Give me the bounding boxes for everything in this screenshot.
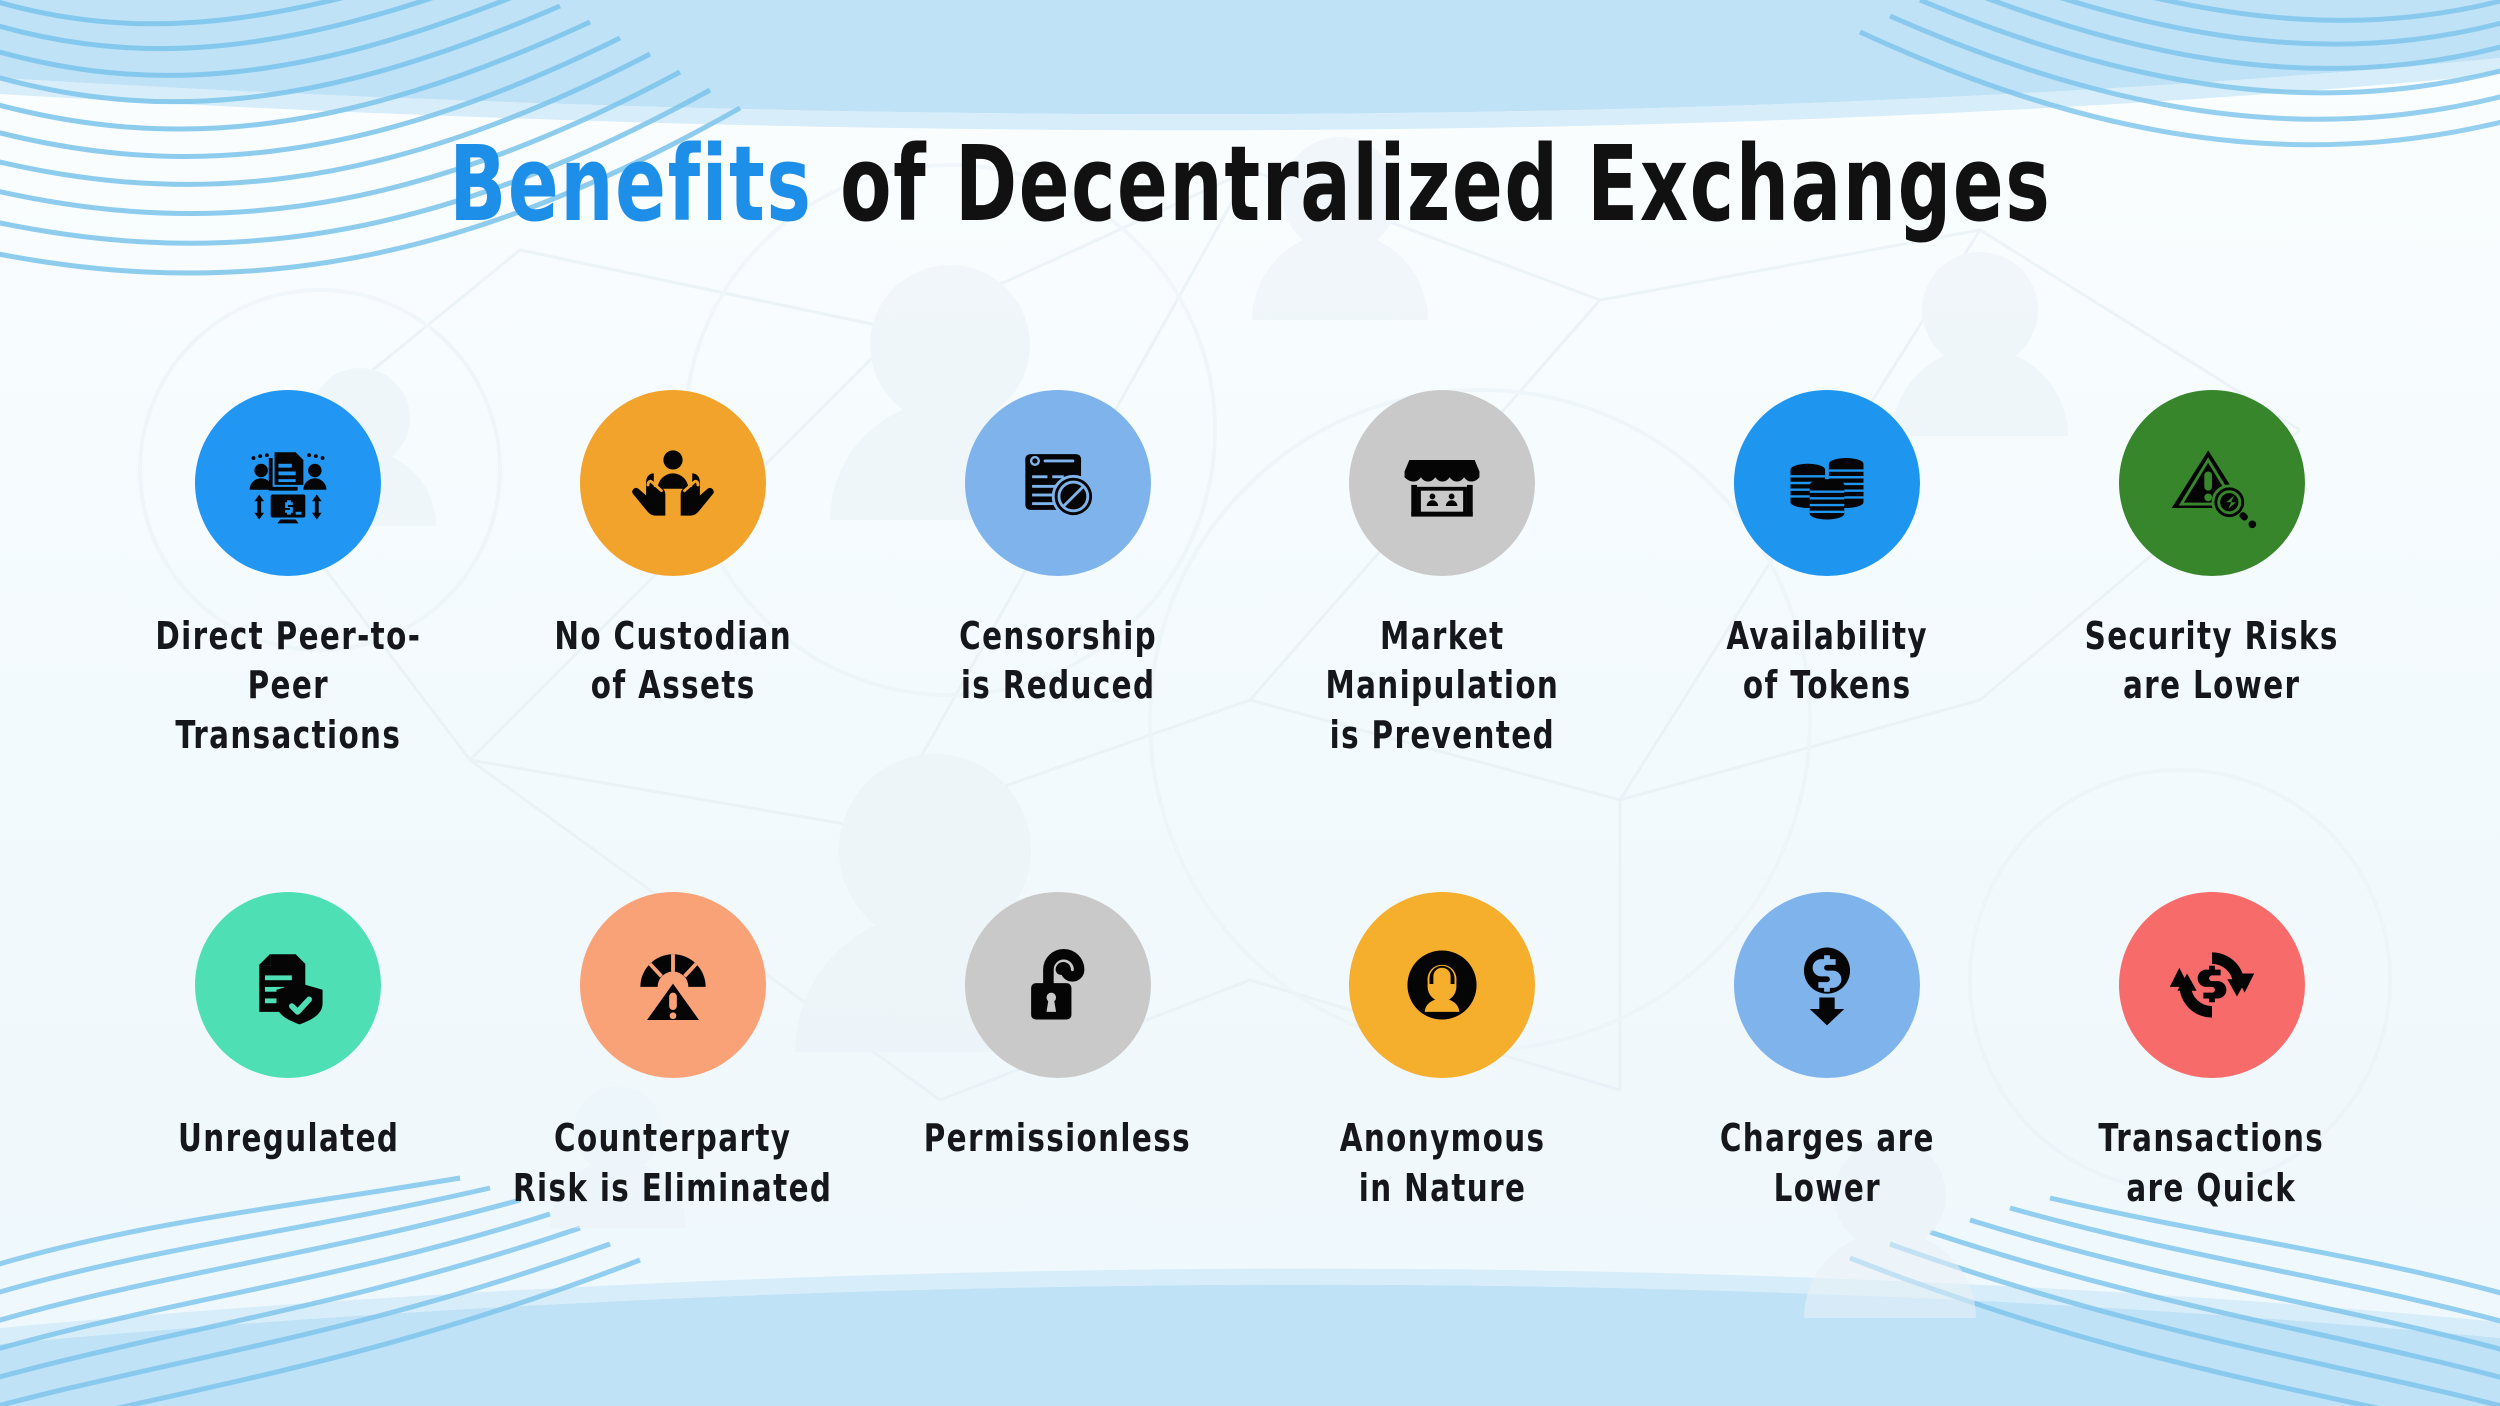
title-highlight: Benefits bbox=[449, 123, 812, 245]
infographic-canvas: Benefits of Decentralized Exchanges bbox=[0, 0, 2500, 1406]
benefit-label: Direct Peer-to-Peer Transactions bbox=[123, 612, 454, 760]
warning-magnifier-icon bbox=[2164, 435, 2260, 531]
icon-circle bbox=[1734, 390, 1920, 576]
benefit-label: Security Risks are Lower bbox=[2085, 612, 2339, 711]
icon-circle bbox=[965, 390, 1151, 576]
benefit-item-transactions-quick[interactable]: Transactions are Quick bbox=[2019, 892, 2404, 1213]
risk-gauge-warning-icon bbox=[625, 937, 721, 1033]
benefit-label: Unregulated bbox=[178, 1114, 399, 1163]
benefit-label: Transactions are Quick bbox=[2099, 1114, 2325, 1213]
icon-circle bbox=[2119, 390, 2305, 576]
peer-to-peer-exchange-icon bbox=[240, 435, 336, 531]
benefit-label: Charges are Lower bbox=[1662, 1114, 1993, 1213]
browser-blocked-icon bbox=[1010, 435, 1106, 531]
icon-circle bbox=[195, 892, 381, 1078]
benefit-item-charges-lower[interactable]: Charges are Lower bbox=[1635, 892, 2020, 1213]
benefit-item-censorship-reduced[interactable]: Censorship is Reduced bbox=[865, 390, 1250, 760]
benefit-label: Censorship is Reduced bbox=[959, 612, 1157, 711]
benefit-label: No Custodian of Assets bbox=[554, 612, 792, 711]
benefit-item-availability-of-tokens[interactable]: Availability of Tokens bbox=[1635, 390, 2020, 760]
benefit-label: Anonymous in Nature bbox=[1339, 1114, 1545, 1213]
dollar-coin-down-arrow-icon bbox=[1779, 937, 1875, 1033]
benefit-item-unregulated[interactable]: Unregulated bbox=[96, 892, 481, 1213]
icon-circle bbox=[580, 390, 766, 576]
anonymous-person-icon bbox=[1394, 937, 1490, 1033]
icon-circle bbox=[195, 390, 381, 576]
icon-circle bbox=[580, 892, 766, 1078]
market-stall-icon bbox=[1394, 435, 1490, 531]
benefit-label: Market Manipulation is Prevented bbox=[1277, 612, 1608, 760]
title-rest: of Decentralized Exchanges bbox=[812, 123, 2051, 245]
open-padlock-icon bbox=[1010, 937, 1106, 1033]
page-title: Benefits of Decentralized Exchanges bbox=[0, 132, 2500, 236]
benefit-item-anonymous[interactable]: Anonymous in Nature bbox=[1250, 892, 1635, 1213]
coin-stacks-icon bbox=[1779, 435, 1875, 531]
icon-circle bbox=[1349, 390, 1535, 576]
icon-circle bbox=[1349, 892, 1535, 1078]
hands-holding-person-icon bbox=[625, 435, 721, 531]
icon-circle bbox=[2119, 892, 2305, 1078]
benefit-item-permissionless[interactable]: Permissionless bbox=[865, 892, 1250, 1213]
benefit-label: Counterparty Risk is Eliminated bbox=[513, 1114, 832, 1213]
benefits-grid: Direct Peer-to-Peer Transactions No Cust… bbox=[96, 390, 2404, 1213]
benefit-label: Permissionless bbox=[924, 1114, 1191, 1163]
benefit-item-direct-peer-to-peer[interactable]: Direct Peer-to-Peer Transactions bbox=[96, 390, 481, 760]
benefit-label: Availability of Tokens bbox=[1726, 612, 1928, 711]
dollar-refresh-cycle-icon bbox=[2164, 937, 2260, 1033]
benefit-item-market-manipulation[interactable]: Market Manipulation is Prevented bbox=[1250, 390, 1635, 760]
benefit-item-counterparty-risk[interactable]: Counterparty Risk is Eliminated bbox=[481, 892, 866, 1213]
benefit-item-no-custodian[interactable]: No Custodian of Assets bbox=[481, 390, 866, 760]
benefit-item-security-risks[interactable]: Security Risks are Lower bbox=[2019, 390, 2404, 760]
icon-circle bbox=[965, 892, 1151, 1078]
icon-circle bbox=[1734, 892, 1920, 1078]
document-shield-check-icon bbox=[240, 937, 336, 1033]
